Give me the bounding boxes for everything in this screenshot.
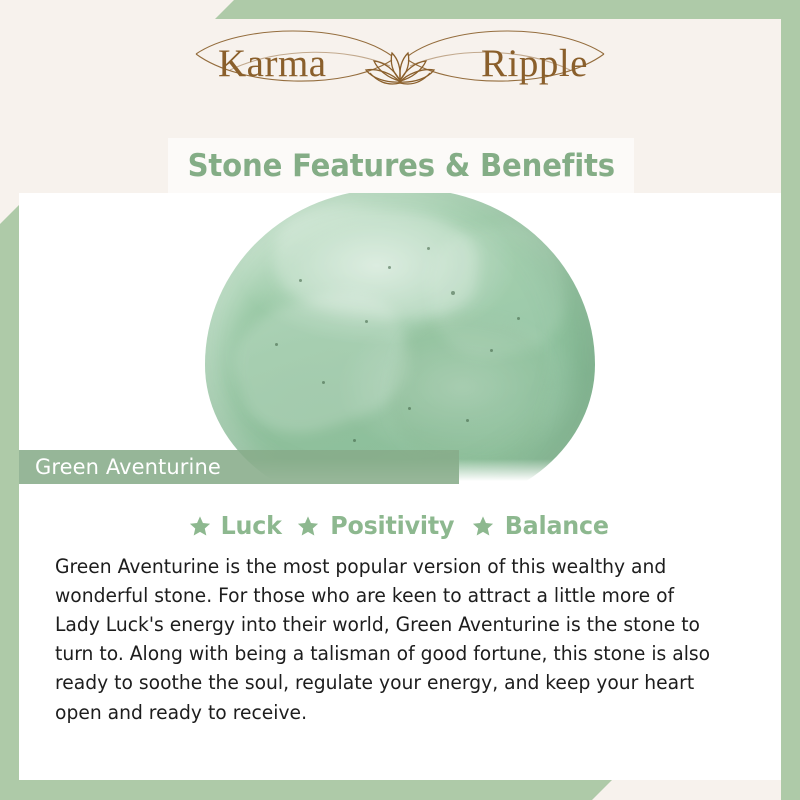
- star-icon: [189, 515, 211, 537]
- stone-body: [205, 193, 595, 485]
- stone-description: Green Aventurine is the most popular ver…: [55, 552, 721, 727]
- brand-logo: Karma Ripple: [170, 26, 630, 108]
- page-title: Stone Features & Benefits: [187, 148, 614, 184]
- trait-list: Luck Positivity Balance: [19, 511, 781, 540]
- stone-photo: [19, 193, 781, 485]
- stone-image: [205, 193, 595, 485]
- trait-item: Luck: [189, 511, 283, 540]
- stone-speck: [490, 349, 493, 352]
- frame-left-bar: [0, 205, 19, 800]
- trait-item: Positivity: [297, 511, 458, 540]
- brand-name-right: Ripple: [481, 40, 588, 89]
- brand-name-left: Karma: [218, 40, 327, 89]
- content-area: Luck Positivity Balance Green Aventurine…: [19, 485, 781, 780]
- stone-speck: [275, 343, 278, 346]
- trait-label: Positivity: [330, 511, 454, 540]
- stone-speck: [408, 407, 411, 410]
- stone-name: Green Aventurine: [35, 455, 221, 479]
- frame-bottom-bar: [0, 780, 612, 800]
- stone-speck: [427, 247, 430, 250]
- star-icon: [472, 515, 494, 537]
- stone-speck: [353, 439, 356, 442]
- trait-item: Balance: [472, 511, 612, 540]
- product-info-poster: Karma Ripple Stone Features & Benefits: [0, 0, 800, 800]
- stone-speck: [322, 381, 325, 384]
- frame-top-bar: [215, 0, 800, 19]
- star-icon: [297, 515, 319, 537]
- stone-name-band: Green Aventurine: [19, 450, 459, 484]
- trait-label: Luck: [220, 511, 281, 540]
- section-title-banner: Stone Features & Benefits: [168, 138, 634, 193]
- trait-label: Balance: [504, 511, 608, 540]
- stone-speck: [299, 279, 302, 282]
- frame-right-bar: [781, 0, 800, 800]
- stone-speck: [517, 317, 520, 320]
